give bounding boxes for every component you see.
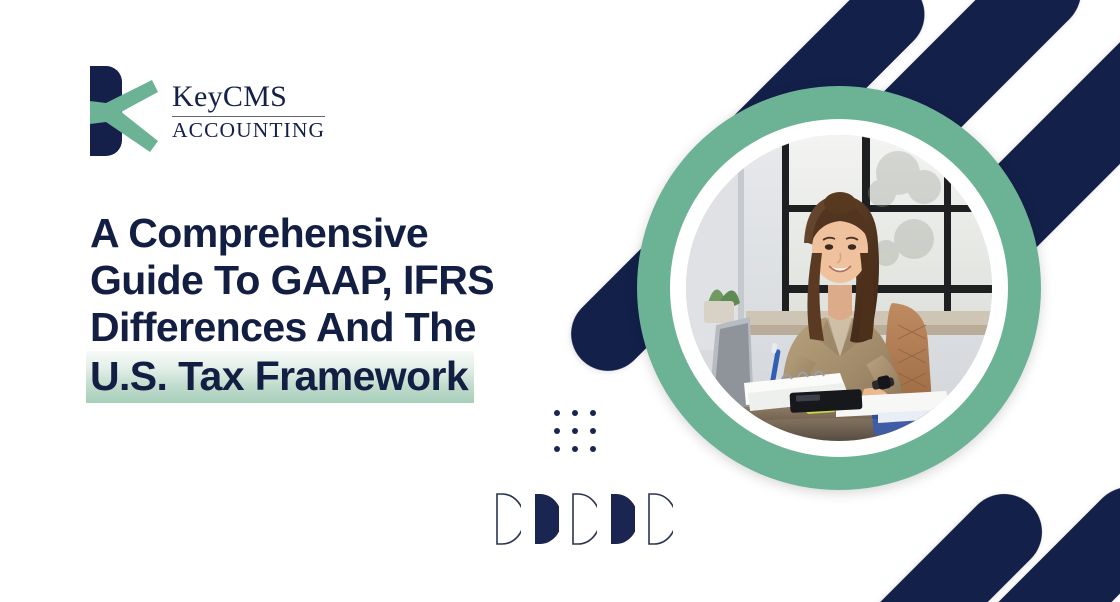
headline-line-4-highlighted: U.S. Tax Framework xyxy=(86,351,474,403)
keycms-k-monogram-icon xyxy=(86,64,158,158)
grid-dot xyxy=(572,428,578,434)
logo-company-name: KeyCMS xyxy=(172,82,325,113)
diagonal-bar xyxy=(834,478,1057,602)
blog-banner: KeyCMS ACCOUNTING A Comprehensive Guide … xyxy=(0,0,1120,602)
grid-dot xyxy=(572,446,578,452)
diagonal-bar xyxy=(953,470,1120,602)
page-title: A Comprehensive Guide To GAAP, IFRS Diff… xyxy=(90,210,560,403)
brand-logo[interactable]: KeyCMS ACCOUNTING xyxy=(86,64,325,158)
grid-dot xyxy=(554,410,560,416)
photo-badge xyxy=(637,86,1041,490)
half-circle-outline-icon xyxy=(571,492,597,546)
half-circle-filled-icon xyxy=(533,492,559,546)
half-circle-filled-icon xyxy=(609,492,635,546)
grid-dot xyxy=(572,410,578,416)
accountant-photo-illustration xyxy=(686,135,992,441)
grid-dot xyxy=(554,446,560,452)
logo-wordmark: KeyCMS ACCOUNTING xyxy=(172,80,325,141)
half-circle-outline-icon xyxy=(647,492,673,546)
headline-line-2: Guide To GAAP, IFRS xyxy=(90,257,560,304)
headline-line-3: Differences And The xyxy=(90,304,560,351)
grid-dot xyxy=(554,428,560,434)
logo-divider-rule xyxy=(172,116,325,117)
grid-dot xyxy=(590,428,596,434)
dot-grid-decoration xyxy=(554,410,596,452)
half-circle-outline-icon xyxy=(495,492,521,546)
logo-tagline: ACCOUNTING xyxy=(172,119,325,142)
grid-dot xyxy=(590,410,596,416)
accountant-photo xyxy=(686,135,992,441)
headline-line-1: A Comprehensive xyxy=(90,210,560,257)
grid-dot xyxy=(590,446,596,452)
half-circle-row-decoration xyxy=(495,492,673,546)
